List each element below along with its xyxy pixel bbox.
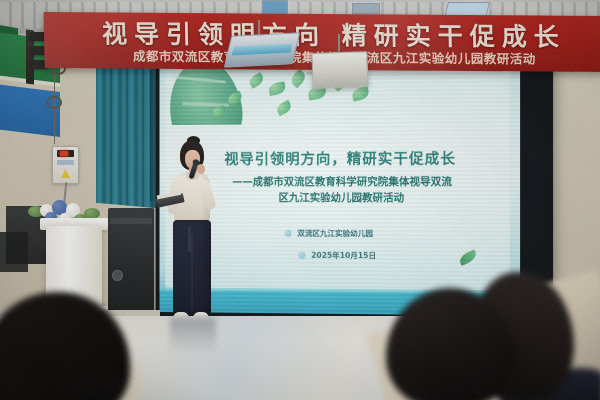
speaker-grille	[110, 218, 152, 224]
slide-subtitle-line2: 区九江实验幼儿园教研活动	[185, 190, 502, 205]
presenter-waist-tie	[188, 226, 191, 252]
presenter-floor-reflection	[170, 318, 216, 354]
leaf-icon	[247, 72, 265, 89]
control-panel-label	[57, 160, 74, 165]
speaker-cabinet	[108, 208, 154, 320]
lamp-tube	[232, 43, 293, 55]
slide-meta-date: 2025年10月15日	[298, 250, 376, 261]
wall-panel-blue	[0, 84, 60, 137]
leaf-icon	[268, 81, 287, 96]
hanging-light-fixture	[224, 32, 300, 68]
photo-scene: 视导引领明方向，精研实干促成长 ——成都市双流区教育科学研究院集体视导双流 区九…	[0, 0, 600, 400]
slide-meta-organization: 双流区九江实验幼儿园	[284, 228, 372, 239]
av-equipment-box	[0, 232, 28, 272]
control-panel-display	[57, 150, 74, 157]
leaf-icon	[275, 100, 293, 116]
wall-control-panel[interactable]	[52, 146, 79, 184]
presenter-pants	[173, 220, 211, 314]
presenter	[160, 140, 224, 332]
bullet-dot-icon	[298, 252, 305, 259]
bullet-dot-icon	[284, 230, 291, 237]
warning-triangle-icon	[61, 169, 70, 178]
leaf-icon	[289, 69, 309, 89]
slide-title: 视导引领明方向，精研实干促成长	[181, 147, 502, 169]
speaker-knob-icon	[112, 270, 123, 281]
ceiling-light-icon	[262, 0, 288, 14]
slide-meta-label: 2025年10月15日	[311, 250, 376, 261]
leaf-icon	[351, 86, 370, 102]
wall-hook-icon	[46, 96, 62, 109]
hanging-light-fixture	[311, 51, 368, 89]
slide-subtitle-line1: ——成都市双流区教育科学研究院集体视导双流	[185, 174, 502, 189]
slide-meta-label: 双流区九江实验幼儿园	[297, 228, 373, 239]
ceiling-light-icon	[352, 3, 380, 14]
